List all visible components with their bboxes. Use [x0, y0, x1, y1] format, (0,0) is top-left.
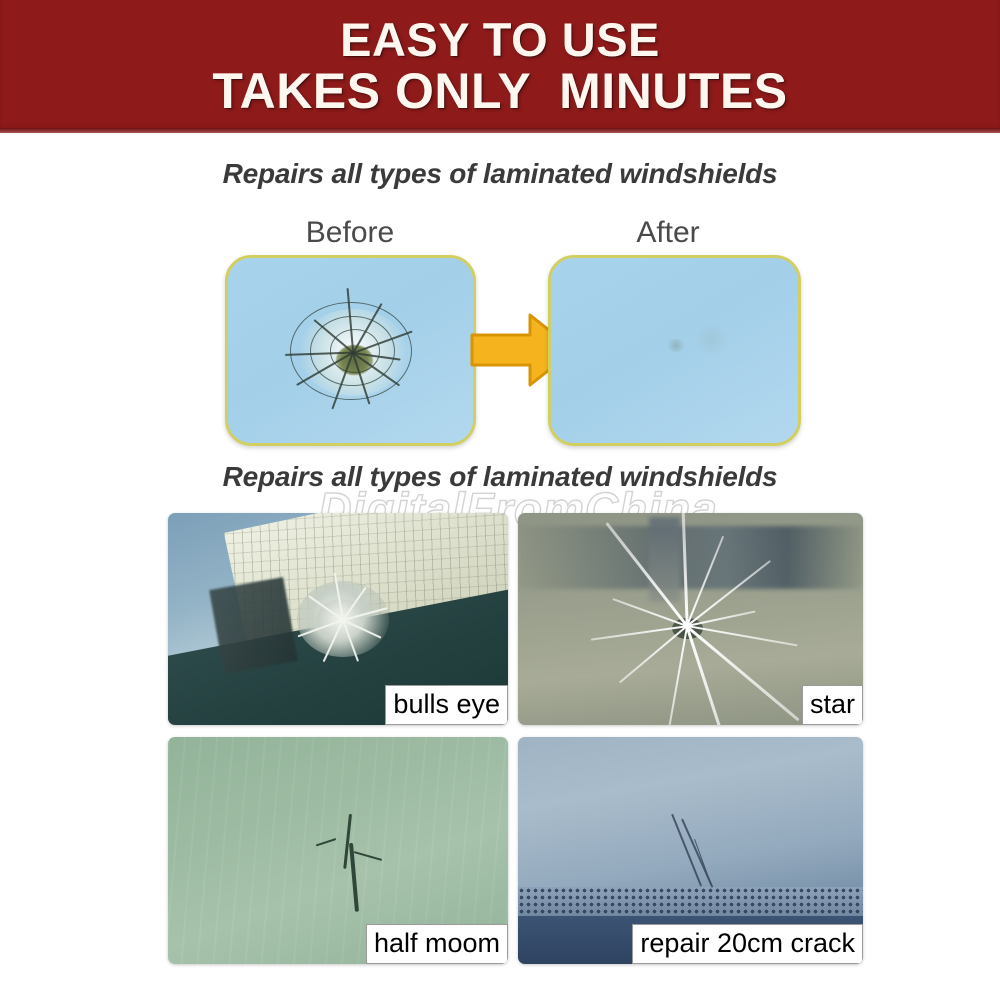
before-panel: [225, 255, 476, 446]
after-label: After: [548, 216, 788, 250]
before-label: Before: [230, 216, 470, 250]
bulls-eye-chip: [297, 581, 389, 657]
photo-label-half-moon: half moom: [366, 924, 508, 964]
photo-label-long-crack: repair 20cm crack: [632, 924, 863, 964]
repaired-residual-haze: [694, 323, 729, 356]
repaired-residual-mark: [665, 339, 687, 352]
damage-photo-long-crack: repair 20cm crack: [518, 737, 863, 964]
caption-bottom: Repairs all types of laminated windshiel…: [0, 461, 1000, 493]
wiper-arm: [209, 577, 297, 673]
after-panel: [548, 255, 801, 446]
caption-top: Repairs all types of laminated windshiel…: [0, 158, 1000, 190]
photo-label-bulls-eye: bulls eye: [385, 685, 508, 725]
photo-label-star: star: [802, 685, 863, 725]
product-infographic: EASY TO USE TAKES ONLY MINUTES Repairs a…: [0, 0, 1000, 1000]
star-break: [615, 564, 767, 687]
windshield-chip-damage: [282, 295, 424, 410]
damage-photo-star: star: [518, 513, 863, 725]
banner-headline-2: TAKES ONLY MINUTES: [212, 66, 787, 117]
banner-headline-1: EASY TO USE: [340, 16, 660, 64]
long-crack-line: [656, 814, 739, 896]
half-moon-crack: [324, 814, 378, 909]
damage-photo-half-moon: half moom: [168, 737, 508, 964]
damage-photo-bulls-eye: bulls eye: [168, 513, 508, 725]
header-banner: EASY TO USE TAKES ONLY MINUTES: [0, 0, 1000, 133]
